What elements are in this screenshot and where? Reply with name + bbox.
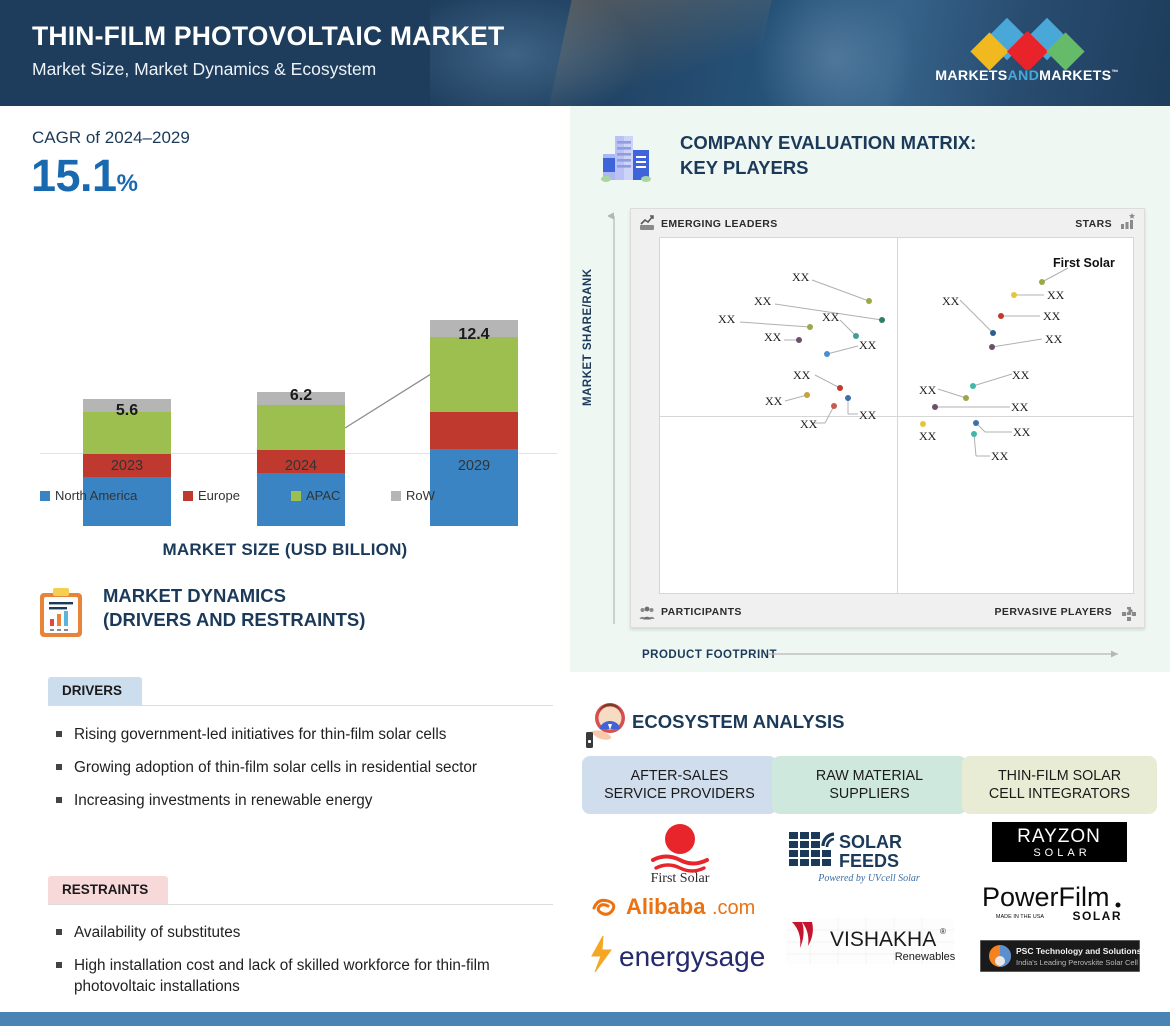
- drivers-list: Rising government-led initiatives for th…: [48, 724, 553, 823]
- list-item: High installation cost and lack of skill…: [48, 955, 553, 997]
- matrix-point-label: XX: [859, 338, 876, 353]
- legend-item-apac: APAC: [291, 488, 391, 503]
- quadrant-label-participants: PARTICIPANTS: [661, 606, 742, 618]
- chart-legend: North America Europe APAC RoW: [40, 488, 560, 503]
- drivers-tab[interactable]: DRIVERS: [48, 677, 142, 705]
- quadrant-label-emerging-leaders: EMERGING LEADERS: [661, 218, 778, 230]
- logo-diamonds-icon: [932, 18, 1122, 70]
- bar-segment-europe: [430, 412, 518, 449]
- company-evaluation-matrix-panel: COMPANY EVALUATION MATRIX: KEY PLAYERS M…: [570, 106, 1170, 672]
- logo-solar-feeds: SOLAR FEEDS Powered by UVcell Solar: [772, 828, 967, 895]
- bar-segment-apac: [430, 337, 518, 412]
- legend-swatch-apac: [291, 491, 301, 501]
- matrix-point-dot: [990, 330, 996, 336]
- matrix-title: COMPANY EVALUATION MATRIX: KEY PLAYERS: [680, 130, 1120, 180]
- logo-vishakha: VISHAKHA ® Renewables: [772, 916, 967, 973]
- svg-text:FEEDS: FEEDS: [839, 851, 899, 871]
- legend-swatch-row: [391, 491, 401, 501]
- matrix-point-label: XX: [991, 449, 1008, 464]
- logo-trademark: ™: [1111, 69, 1118, 76]
- bar-total-2024: 6.2: [257, 387, 345, 405]
- matrix-point-label: XX: [764, 330, 781, 345]
- matrix-point-dot: [970, 383, 976, 389]
- legend-label-apac: APAC: [306, 488, 340, 503]
- matrix-point-label: XX: [942, 294, 959, 309]
- svg-text:Powered by UVcell Solar: Powered by UVcell Solar: [817, 873, 920, 884]
- matrix-point-label: XX: [822, 310, 839, 325]
- matrix-point-dot: [845, 395, 851, 401]
- ecosystem-card-label-line1: THIN-FILM SOLAR: [989, 767, 1130, 785]
- svg-text:RAYZON: RAYZON: [1017, 826, 1101, 847]
- matrix-point-dot: [796, 337, 802, 343]
- people-icon: [639, 605, 655, 621]
- svg-text:VISHAKHA: VISHAKHA: [830, 928, 936, 951]
- matrix-point-dot: [998, 313, 1004, 319]
- legend-label-row: RoW: [406, 488, 435, 503]
- solar-feeds-logo-icon: SOLAR FEEDS Powered by UVcell Solar: [787, 828, 952, 890]
- ecosystem-card-raw-material[interactable]: RAW MATERIAL SUPPLIERS: [772, 756, 967, 814]
- ecosystem-card-label-line2: SUPPLIERS: [816, 785, 923, 803]
- x-axis-label-2024: 2024: [221, 458, 381, 474]
- ecosystem-card-label-line1: RAW MATERIAL: [816, 767, 923, 785]
- market-dynamics-title-line2: (DRIVERS AND RESTRAINTS): [103, 608, 543, 632]
- first-solar-logo-icon: First Solar: [625, 822, 735, 884]
- svg-text:Renewables: Renewables: [894, 951, 955, 963]
- chart-title: MARKET SIZE (USD BILLION): [0, 540, 570, 560]
- hand-person-icon: [584, 702, 636, 754]
- footer-bar: [0, 1012, 1170, 1026]
- ecosystem-card-cell-integrators[interactable]: THIN-FILM SOLAR CELL INTEGRATORS: [962, 756, 1157, 814]
- svg-text:MADE IN THE USA: MADE IN THE USA: [996, 914, 1045, 920]
- logo-and: AND: [1008, 68, 1040, 84]
- alibaba-logo-icon: Alibaba .com: [590, 888, 770, 924]
- rayzon-solar-logo-icon: RAYZON SOLAR: [992, 822, 1127, 862]
- x-axis-label-2029: 2029: [394, 458, 554, 474]
- matrix-point-dot: [1039, 279, 1045, 285]
- matrix-point-label: XX: [1043, 309, 1060, 324]
- list-item: Rising government-led initiatives for th…: [48, 724, 553, 745]
- market-dynamics-title: MARKET DYNAMICS (DRIVERS AND RESTRAINTS): [103, 584, 543, 632]
- matrix-point-label: XX: [1011, 400, 1028, 415]
- svg-text:First Solar: First Solar: [650, 871, 709, 884]
- matrix-point-dot: [824, 351, 830, 357]
- x-axis-label-2023: 2023: [47, 458, 207, 474]
- svg-text:PowerFilm: PowerFilm: [982, 882, 1110, 912]
- logo-alibaba: Alibaba .com: [582, 888, 777, 929]
- matrix-point-dot: [971, 431, 977, 437]
- matrix-point-dot: [963, 395, 969, 401]
- legend-item-europe: Europe: [183, 488, 291, 503]
- matrix-point-label: XX: [1047, 288, 1064, 303]
- matrix-point-label: XX: [919, 429, 936, 444]
- market-dynamics-title-line1: MARKET DYNAMICS: [103, 584, 543, 608]
- matrix-point-dot: [989, 344, 995, 350]
- ecosystem-logos-cell-integrators: RAYZON SOLAR PowerFilm SOLAR MADE IN THE…: [962, 822, 1157, 1007]
- legend-swatch-europe: [183, 491, 193, 501]
- ecosystem-card-label-line1: AFTER-SALES: [604, 767, 755, 785]
- matrix-point-dot: [932, 404, 938, 410]
- svg-text:®: ®: [940, 927, 946, 936]
- matrix-title-line1: COMPANY EVALUATION MATRIX:: [680, 130, 1120, 155]
- logo-first-solar: First Solar: [582, 822, 777, 889]
- right-column: COMPANY EVALUATION MATRIX: KEY PLAYERS M…: [570, 106, 1170, 1005]
- ecosystem-title: ECOSYSTEM ANALYSIS: [632, 711, 844, 733]
- ecosystem-logos-after-sales: First Solar Alibaba .com energysage: [582, 822, 777, 1007]
- legend-label-europe: Europe: [198, 488, 240, 503]
- bar-segment-apac: [257, 405, 345, 450]
- matrix-highlighted-company-label: First Solar: [1053, 256, 1115, 270]
- restraints-divider: [48, 904, 553, 905]
- logo-energysage: energysage: [582, 934, 777, 979]
- matrix-point-dot: [804, 392, 810, 398]
- matrix-point-dot: [920, 421, 926, 427]
- matrix-point-dot: [807, 324, 813, 330]
- matrix-point-dot: [973, 420, 979, 426]
- matrix-point-dot: [1011, 292, 1017, 298]
- matrix-plot-area: XX XX XX XX XX XX First Solar XX XX X: [659, 237, 1134, 594]
- matrix-point-dot: [879, 317, 885, 323]
- svg-text:PSC Technology and Solutions P: PSC Technology and Solutions Pvt Ltd: [1016, 946, 1140, 956]
- list-item: Growing adoption of thin-film solar cell…: [48, 757, 553, 778]
- matrix-y-axis-label: MARKET SHARE/RANK: [582, 268, 594, 406]
- matrix-title-line2: KEY PLAYERS: [680, 155, 1120, 180]
- matrix-point-label: XX: [1045, 332, 1062, 347]
- svg-text:energysage: energysage: [619, 941, 765, 972]
- quadrant-label-pervasive-players: PERVASIVE PLAYERS: [995, 606, 1112, 618]
- matrix-point-label: XX: [1012, 368, 1029, 383]
- powerfilm-logo-icon: PowerFilm SOLAR MADE IN THE USA: [972, 880, 1147, 924]
- matrix-x-axis-arrow: [766, 647, 1126, 661]
- legend-item-row: RoW: [391, 488, 435, 503]
- matrix-point-label: XX: [859, 408, 876, 423]
- restraints-list: Availability of substitutes High install…: [48, 922, 553, 1009]
- growth-chart-icon: [639, 215, 655, 231]
- page-subtitle: Market Size, Market Dynamics & Ecosystem: [32, 59, 376, 80]
- matrix-y-axis-arrow: [608, 210, 622, 628]
- svg-text:India's Leading Perovskite Sol: India's Leading Perovskite Solar Cell Co…: [1016, 958, 1140, 967]
- matrix-point-label: XX: [919, 383, 936, 398]
- legend-label-north-america: North America: [55, 488, 137, 503]
- matrix-point-dot: [837, 385, 843, 391]
- ecosystem-card-label-line2: SERVICE PROVIDERS: [604, 785, 755, 803]
- matrix-point-dot: [866, 298, 872, 304]
- energysage-logo-icon: energysage: [587, 934, 772, 974]
- logo-psc-technology: PSC Technology and Solutions Pvt Ltd Ind…: [962, 940, 1157, 977]
- puzzle-icon: [1121, 606, 1137, 622]
- bar-total-2029: 12.4: [430, 326, 518, 344]
- psc-technology-logo-icon: PSC Technology and Solutions Pvt Ltd Ind…: [980, 940, 1140, 972]
- brand-logo: MARKETSANDMARKETS™: [932, 18, 1122, 90]
- logo-wordmark: MARKETSANDMARKETS™: [932, 68, 1122, 84]
- svg-text:SOLAR: SOLAR: [1033, 847, 1090, 859]
- matrix-point-label: XX: [718, 312, 735, 327]
- clipboard-chart-icon: [38, 587, 84, 639]
- ecosystem-card-after-sales[interactable]: AFTER-SALES SERVICE PROVIDERS: [582, 756, 777, 814]
- ecosystem-logos-raw-material: SOLAR FEEDS Powered by UVcell Solar VISH…: [772, 822, 967, 1007]
- header-background-accent-3: [735, 0, 915, 106]
- matrix-point-label: XX: [793, 368, 810, 383]
- bar-star-icon: [1120, 213, 1136, 229]
- page-title: THIN-FILM PHOTOVOLTAIC MARKET: [32, 21, 504, 52]
- list-item: Increasing investments in renewable ener…: [48, 790, 553, 811]
- restraints-tab[interactable]: RESTRAINTS: [48, 876, 168, 904]
- list-item: Availability of substitutes: [48, 922, 553, 943]
- quadrant-label-stars: STARS: [1075, 218, 1112, 230]
- logo-markets-1: MARKETS: [935, 68, 1007, 84]
- svg-text:SOLAR: SOLAR: [1073, 909, 1123, 923]
- vishakha-logo-icon: VISHAKHA ® Renewables: [780, 916, 960, 968]
- matrix-point-label: XX: [754, 294, 771, 309]
- svg-text:SOLAR: SOLAR: [839, 832, 902, 852]
- building-icon: [597, 128, 655, 186]
- bar-total-2023: 5.6: [83, 402, 171, 420]
- logo-markets-2: MARKETS: [1039, 68, 1111, 84]
- legend-swatch-north-america: [40, 491, 50, 501]
- drivers-divider: [48, 705, 553, 706]
- svg-text:Alibaba: Alibaba: [626, 894, 706, 919]
- matrix-point-label: XX: [800, 417, 817, 432]
- legend-item-north-america: North America: [40, 488, 183, 503]
- matrix-grid: EMERGING LEADERS STARS PARTICIPANTS PERV…: [630, 208, 1145, 628]
- ecosystem-card-label-line2: CELL INTEGRATORS: [989, 785, 1130, 803]
- matrix-point-label: XX: [765, 394, 782, 409]
- market-size-bar-chart: 5.6 2023 6.2 2024 12.4 2029 North Americ…: [0, 106, 570, 526]
- left-column: CAGR of 2024–2029 15.1% 5.6 2023: [0, 106, 570, 1005]
- svg-text:.com: .com: [712, 897, 755, 919]
- logo-powerfilm-solar: PowerFilm SOLAR MADE IN THE USA: [962, 880, 1157, 929]
- matrix-point-dot: [831, 403, 837, 409]
- matrix-point-label: XX: [1013, 425, 1030, 440]
- page-header: THIN-FILM PHOTOVOLTAIC MARKET Market Siz…: [0, 0, 1170, 106]
- matrix-point-label: XX: [792, 270, 809, 285]
- logo-rayzon-solar: RAYZON SOLAR: [962, 822, 1157, 867]
- matrix-x-axis-label: PRODUCT FOOTPRINT: [642, 649, 777, 661]
